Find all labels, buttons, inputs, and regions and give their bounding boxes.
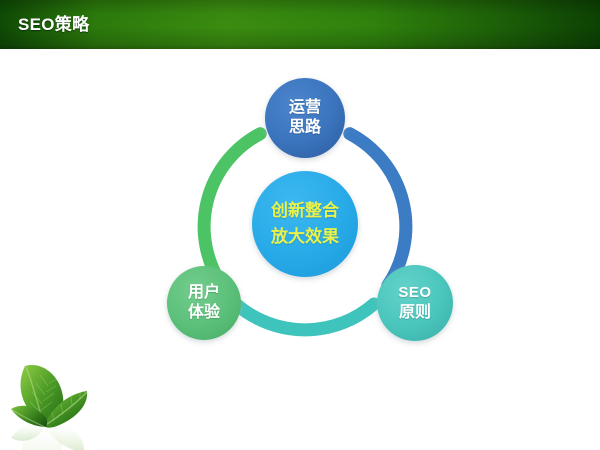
node-user-experience[interactable] (167, 266, 241, 340)
slide-canvas: SEO策略 (0, 0, 600, 450)
node-seo-principle[interactable] (377, 265, 453, 341)
arc-bottom-teal (236, 304, 374, 330)
page-title: SEO策略 (18, 15, 89, 35)
node-operation[interactable] (265, 78, 345, 158)
header-bar: SEO策略 (0, 0, 600, 49)
arc-left-green (204, 134, 260, 286)
center-node[interactable] (252, 171, 358, 277)
leaf-icon (2, 348, 122, 450)
arc-right-blue (350, 134, 406, 286)
